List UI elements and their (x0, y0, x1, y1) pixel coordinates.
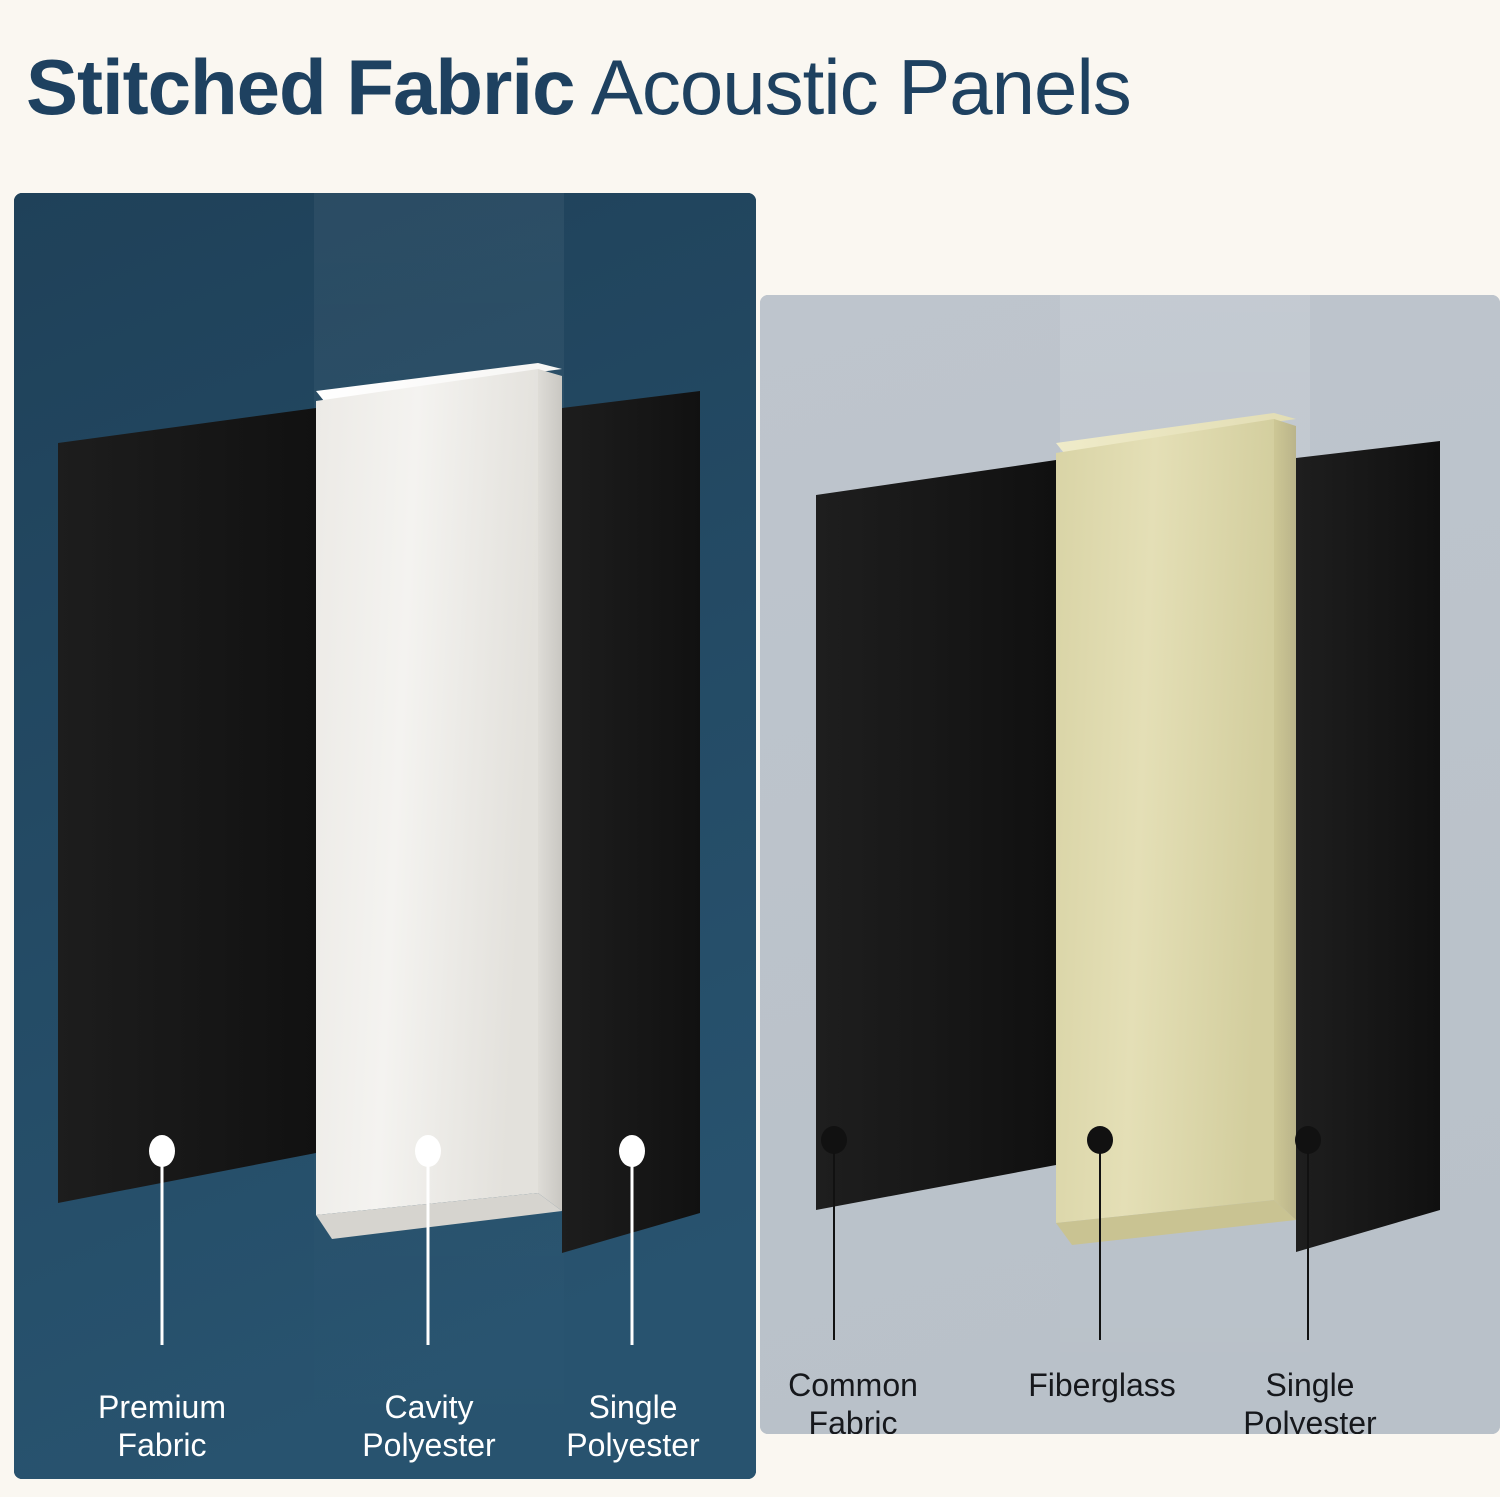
others-callout-label-1: Common Fabric (760, 1367, 946, 1434)
page-title: Stitched Fabric Acoustic Panels (26, 47, 1131, 128)
bubos-layer-cavity-polyester (316, 363, 562, 1239)
others-layer-fiberglass (1056, 413, 1296, 1245)
page-title-bold: Stitched Fabric (26, 43, 574, 131)
page-title-regular: Acoustic Panels (574, 43, 1130, 131)
bubos-panel-illustration (14, 193, 756, 1479)
others-layer-single-polyester (1296, 441, 1440, 1252)
card-others: Others Fiberglass poses health risks (760, 295, 1500, 1434)
card-bubos: BUBOS Fiberglass-Free & Safe (14, 193, 756, 1479)
others-panel-illustration (760, 295, 1500, 1434)
bubos-callout-label-2: Cavity Polyester (334, 1389, 524, 1465)
others-layer-common-fabric (816, 460, 1056, 1210)
bubos-layer-single-polyester (562, 391, 700, 1253)
others-callout-label-3: Single Polyester (1220, 1367, 1400, 1434)
infographic-root: Stitched Fabric Acoustic Panels BUBOS Fi… (0, 0, 1500, 1497)
bubos-callout-label-3: Single Polyester (538, 1389, 728, 1465)
bubos-callout-label-1: Premium Fabric (62, 1389, 262, 1465)
others-callout-label-2: Fiberglass (1012, 1367, 1192, 1405)
bubos-layer-premium-fabric (58, 408, 316, 1203)
